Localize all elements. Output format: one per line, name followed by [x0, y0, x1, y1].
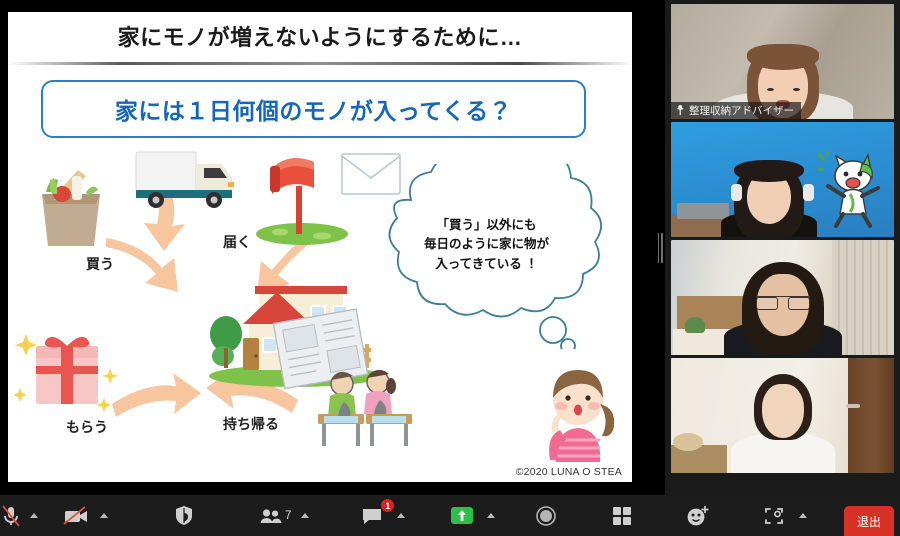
zoom-meeting-window: 家にモノが増えないようにするために… 家には１日何個のモノが入ってくる？ [0, 0, 900, 536]
microphone-muted-icon [1, 505, 21, 527]
camera-off-icon [63, 506, 89, 526]
question-text: 家には１日何個のモノが入ってくる？ [115, 92, 512, 126]
video-options-caret[interactable] [100, 513, 108, 518]
video-feed-3 [671, 240, 894, 355]
apps-button[interactable] [757, 495, 791, 536]
chat-unread-badge: 1 [381, 499, 394, 512]
chat-icon [361, 507, 383, 525]
bracket-frame-icon [763, 506, 785, 526]
copyright-notice: ©2020 LUNA O STEA [516, 466, 622, 478]
tile1-bangs [747, 44, 819, 70]
presentation-slide: 家にモノが増えないようにするために… 家には１日何個のモノが入ってくる？ [8, 12, 632, 482]
label-deliver: 届く [223, 232, 251, 252]
bubble-line-1: 「買う」以外にも [379, 216, 594, 235]
grid-squares-icon [612, 506, 632, 526]
bubble-line-3: 入ってきている ！ [379, 255, 594, 274]
participants-button[interactable]: 7 [260, 495, 291, 536]
grocery-bag-icon [24, 160, 120, 260]
tile2-headset-right [803, 184, 814, 201]
apps-options-caret[interactable] [799, 513, 807, 518]
mute-options-caret[interactable] [30, 513, 38, 518]
gift-box-icon [14, 310, 124, 420]
tile4-face [762, 384, 804, 438]
panel-resize-handle[interactable] [655, 232, 665, 264]
participant-name-1: 整理収納アドバイザー [689, 103, 794, 118]
shared-screen-area[interactable]: 家にモノが増えないようにするために… 家には１日何個のモノが入ってくる？ [0, 0, 665, 495]
share-options-caret[interactable] [487, 513, 495, 518]
chat-options-caret[interactable] [397, 513, 405, 518]
participants-icon [260, 508, 282, 524]
slide-title: 家にモノが増えないようにするために… [8, 20, 632, 52]
leave-meeting-button[interactable]: 退出 [844, 506, 894, 536]
students-desks-icon [306, 360, 426, 450]
tile3-plant [685, 317, 705, 333]
tile4-door [848, 358, 894, 473]
tile4-door-handle [846, 404, 860, 408]
video-button[interactable] [56, 495, 96, 536]
question-callout-box: 家には１日何個のモノが入ってくる？ [41, 80, 586, 138]
handle-line-1 [658, 233, 660, 263]
tile2-bangs [734, 160, 804, 182]
shield-icon [175, 505, 193, 526]
slide-diagram: 買う 届く [8, 142, 632, 482]
reactions-button[interactable] [681, 495, 715, 536]
participant-tile-2[interactable] [671, 122, 894, 237]
breakout-rooms-button[interactable] [605, 495, 639, 536]
record-button[interactable] [529, 495, 563, 536]
slide-title-bar: 家にモノが増えないようにするために… [8, 12, 632, 64]
smiley-plus-icon [686, 505, 710, 527]
participant-filmstrip[interactable]: 整理収納アドバイザー [665, 0, 900, 495]
tile1-eye-left [767, 88, 774, 91]
label-receive: もらう [66, 417, 108, 437]
meeting-toolbar[interactable]: 7 1 [0, 495, 900, 536]
participant-name-tag-1: 整理収納アドバイザー [671, 102, 801, 119]
thinking-woman-illustration [528, 342, 628, 472]
tile3-glasses [756, 296, 810, 309]
thought-bubble-text: 「買う」以外にも 毎日のように家に物が 入ってきている ！ [379, 216, 594, 274]
cat-mascot-icon [818, 152, 880, 230]
delivery-truck-icon [128, 142, 258, 222]
thought-bubble: 「買う」以外にも 毎日のように家に物が 入ってきている ！ [353, 164, 618, 349]
tile2-headset-left [731, 184, 742, 201]
tile2-laptop [677, 203, 729, 219]
share-screen-icon [451, 507, 473, 524]
participants-count: 7 [285, 510, 291, 522]
chat-button[interactable]: 1 [355, 495, 389, 536]
title-divider [8, 62, 632, 65]
tile4-cushion [673, 433, 703, 451]
record-icon [536, 506, 556, 526]
participant-tile-4[interactable] [671, 358, 894, 473]
security-button[interactable] [164, 495, 204, 536]
tile1-eye-right [793, 88, 800, 91]
participant-tile-3[interactable] [671, 240, 894, 355]
label-buy: 買う [86, 254, 114, 274]
mute-button[interactable] [0, 495, 28, 536]
video-feed-4 [671, 358, 894, 473]
participants-options-caret[interactable] [301, 513, 309, 518]
tile3-lens-right [788, 297, 810, 310]
handle-line-2 [661, 233, 663, 263]
video-feed-2 [671, 122, 894, 237]
participant-tile-1[interactable]: 整理収納アドバイザー [671, 4, 894, 119]
share-screen-button[interactable] [445, 495, 479, 536]
tile3-lens-left [756, 297, 778, 310]
mic-pin-icon [676, 105, 685, 116]
label-bring-home: 持ち帰る [223, 414, 279, 434]
bubble-line-2: 毎日のように家に物が [379, 235, 594, 254]
